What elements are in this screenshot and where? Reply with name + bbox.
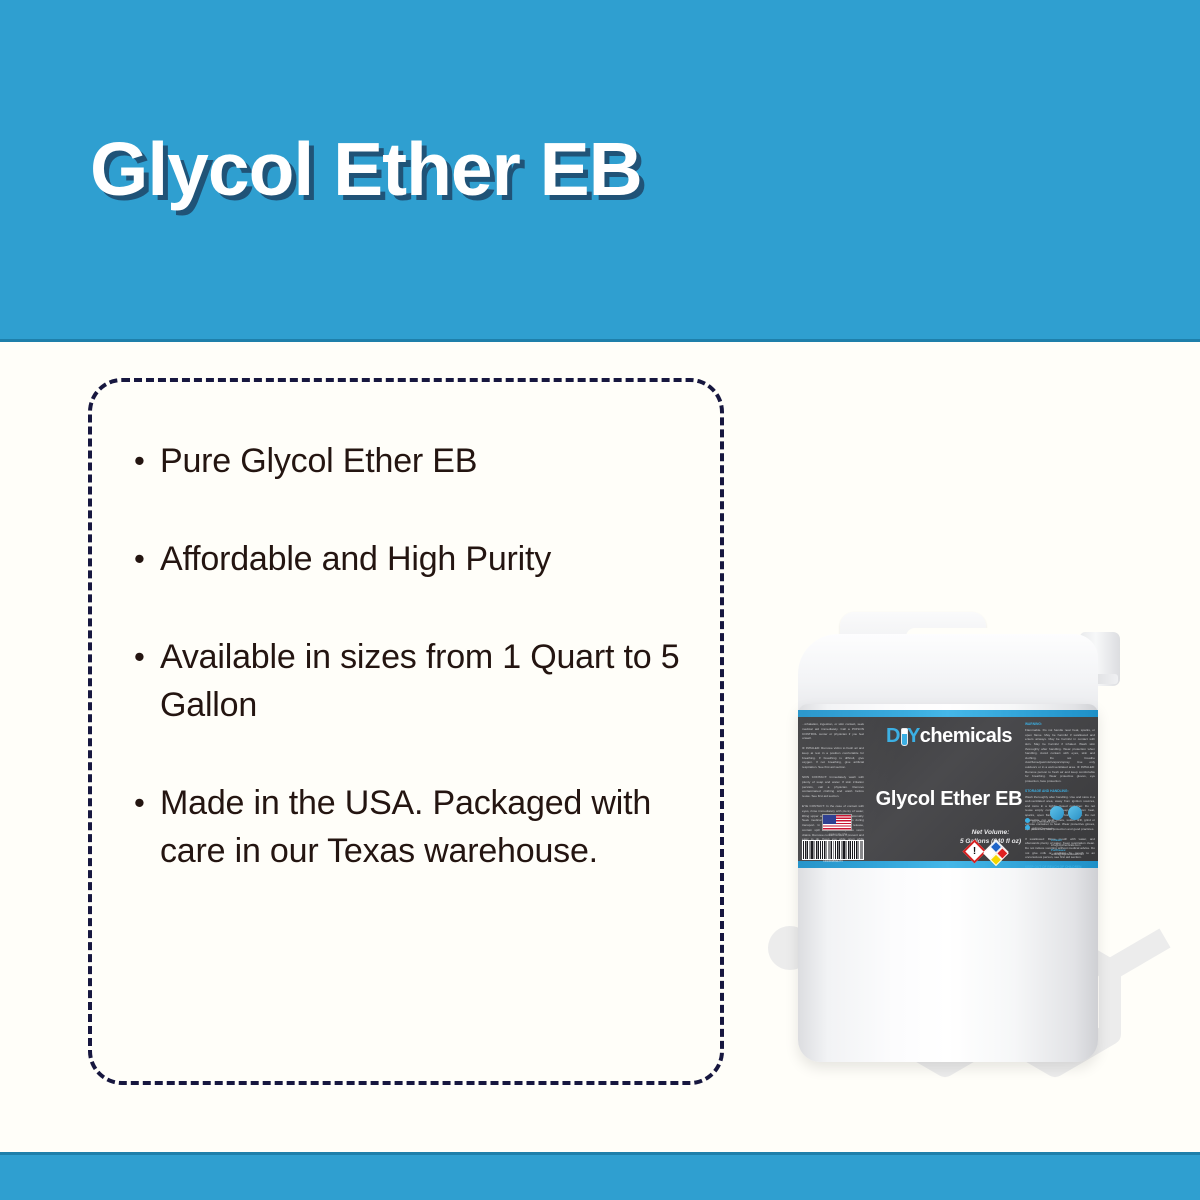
list-item: • Available in sizes from 1 Quart to 5 G… bbox=[134, 633, 694, 729]
brand-logo: DYchemicals bbox=[870, 726, 1028, 746]
warning-body: Flammable. Do not handle near heat, spar… bbox=[1025, 728, 1095, 783]
social-links: DIYChemicals.com @DIY.Chemicals bbox=[1025, 818, 1095, 831]
label-product-name: Glycol Ether EB bbox=[870, 788, 1028, 811]
exclamation-glyph: ! bbox=[968, 845, 981, 858]
feature-text: Affordable and High Purity bbox=[160, 535, 694, 583]
website-text: DIYChemicals.com bbox=[1032, 820, 1057, 824]
barcode bbox=[802, 840, 864, 860]
hazard-pictograms: ! bbox=[966, 843, 1005, 861]
feature-list-card: • Pure Glycol Ether EB • Affordable and … bbox=[88, 378, 724, 1085]
first-aid-text: IF INHALED: Remove victim to fresh air a… bbox=[802, 746, 864, 770]
instagram-dot-icon bbox=[1025, 825, 1030, 830]
page-title: Glycol Ether EB bbox=[90, 132, 642, 207]
contact-email: info@diychemicals.com bbox=[1051, 843, 1080, 847]
bullet-dot-icon: • bbox=[134, 779, 160, 827]
bullet-dot-icon: • bbox=[134, 535, 160, 583]
nfpa-diamond-icon bbox=[983, 839, 1008, 864]
bullet-dot-icon: • bbox=[134, 437, 160, 485]
label-center-block: DYchemicals Glycol Ether EB bbox=[870, 726, 1028, 811]
contact-block: Contact: info@diychemicals.com Purchases… bbox=[1051, 838, 1095, 857]
storage-heading: STORAGE AND HANDLING: bbox=[1025, 789, 1095, 794]
handle-row: @DIY.Chemicals bbox=[1025, 825, 1095, 832]
website-row: DIYChemicals.com bbox=[1025, 818, 1095, 825]
brand-letter-y: Y bbox=[907, 725, 920, 747]
footer-banner bbox=[0, 1152, 1200, 1200]
warning-block: WARNING: Flammable. Do not handle near h… bbox=[1025, 722, 1095, 784]
handle-text: @DIY.Chemicals bbox=[1032, 826, 1054, 830]
globe-dot-icon bbox=[1025, 818, 1030, 823]
first-aid-text: ...inhalation, ingestion, or skin contac… bbox=[802, 722, 864, 741]
test-tube-icon bbox=[900, 726, 907, 746]
feature-text: Available in sizes from 1 Quart to 5 Gal… bbox=[160, 633, 694, 729]
barcode-number: CR1009809427V bbox=[802, 860, 864, 863]
brand-suffix: chemicals bbox=[920, 725, 1012, 747]
usa-flag-icon bbox=[822, 814, 852, 831]
product-label: ...inhalation, ingestion, or skin contac… bbox=[798, 710, 1098, 868]
purchases-email: orders@diychemicals.com bbox=[1051, 852, 1084, 856]
feature-text: Pure Glycol Ether EB bbox=[160, 437, 694, 485]
list-item: • Affordable and High Purity bbox=[134, 535, 694, 583]
keep-out-of-reach-notice: KEEP OUT OF REACH OF CHILDREN bbox=[1025, 865, 1095, 868]
first-aid-text: SKIN CONTACT: Immediately wash with plen… bbox=[802, 775, 864, 799]
warning-heading: WARNING: bbox=[1025, 722, 1095, 727]
feature-bullet-list: • Pure Glycol Ether EB • Affordable and … bbox=[134, 437, 694, 875]
feature-text: Made in the USA. Packaged with care in o… bbox=[160, 779, 694, 875]
list-item: • Pure Glycol Ether EB bbox=[134, 437, 694, 485]
bullet-dot-icon: • bbox=[134, 633, 160, 681]
list-item: • Made in the USA. Packaged with care in… bbox=[134, 779, 694, 875]
brand-letter-d: D bbox=[886, 725, 900, 747]
label-top-stripe bbox=[798, 710, 1098, 717]
flag-caption: made in the USA bbox=[820, 833, 856, 836]
product-image: ...inhalation, ingestion, or skin contac… bbox=[790, 612, 1120, 1064]
